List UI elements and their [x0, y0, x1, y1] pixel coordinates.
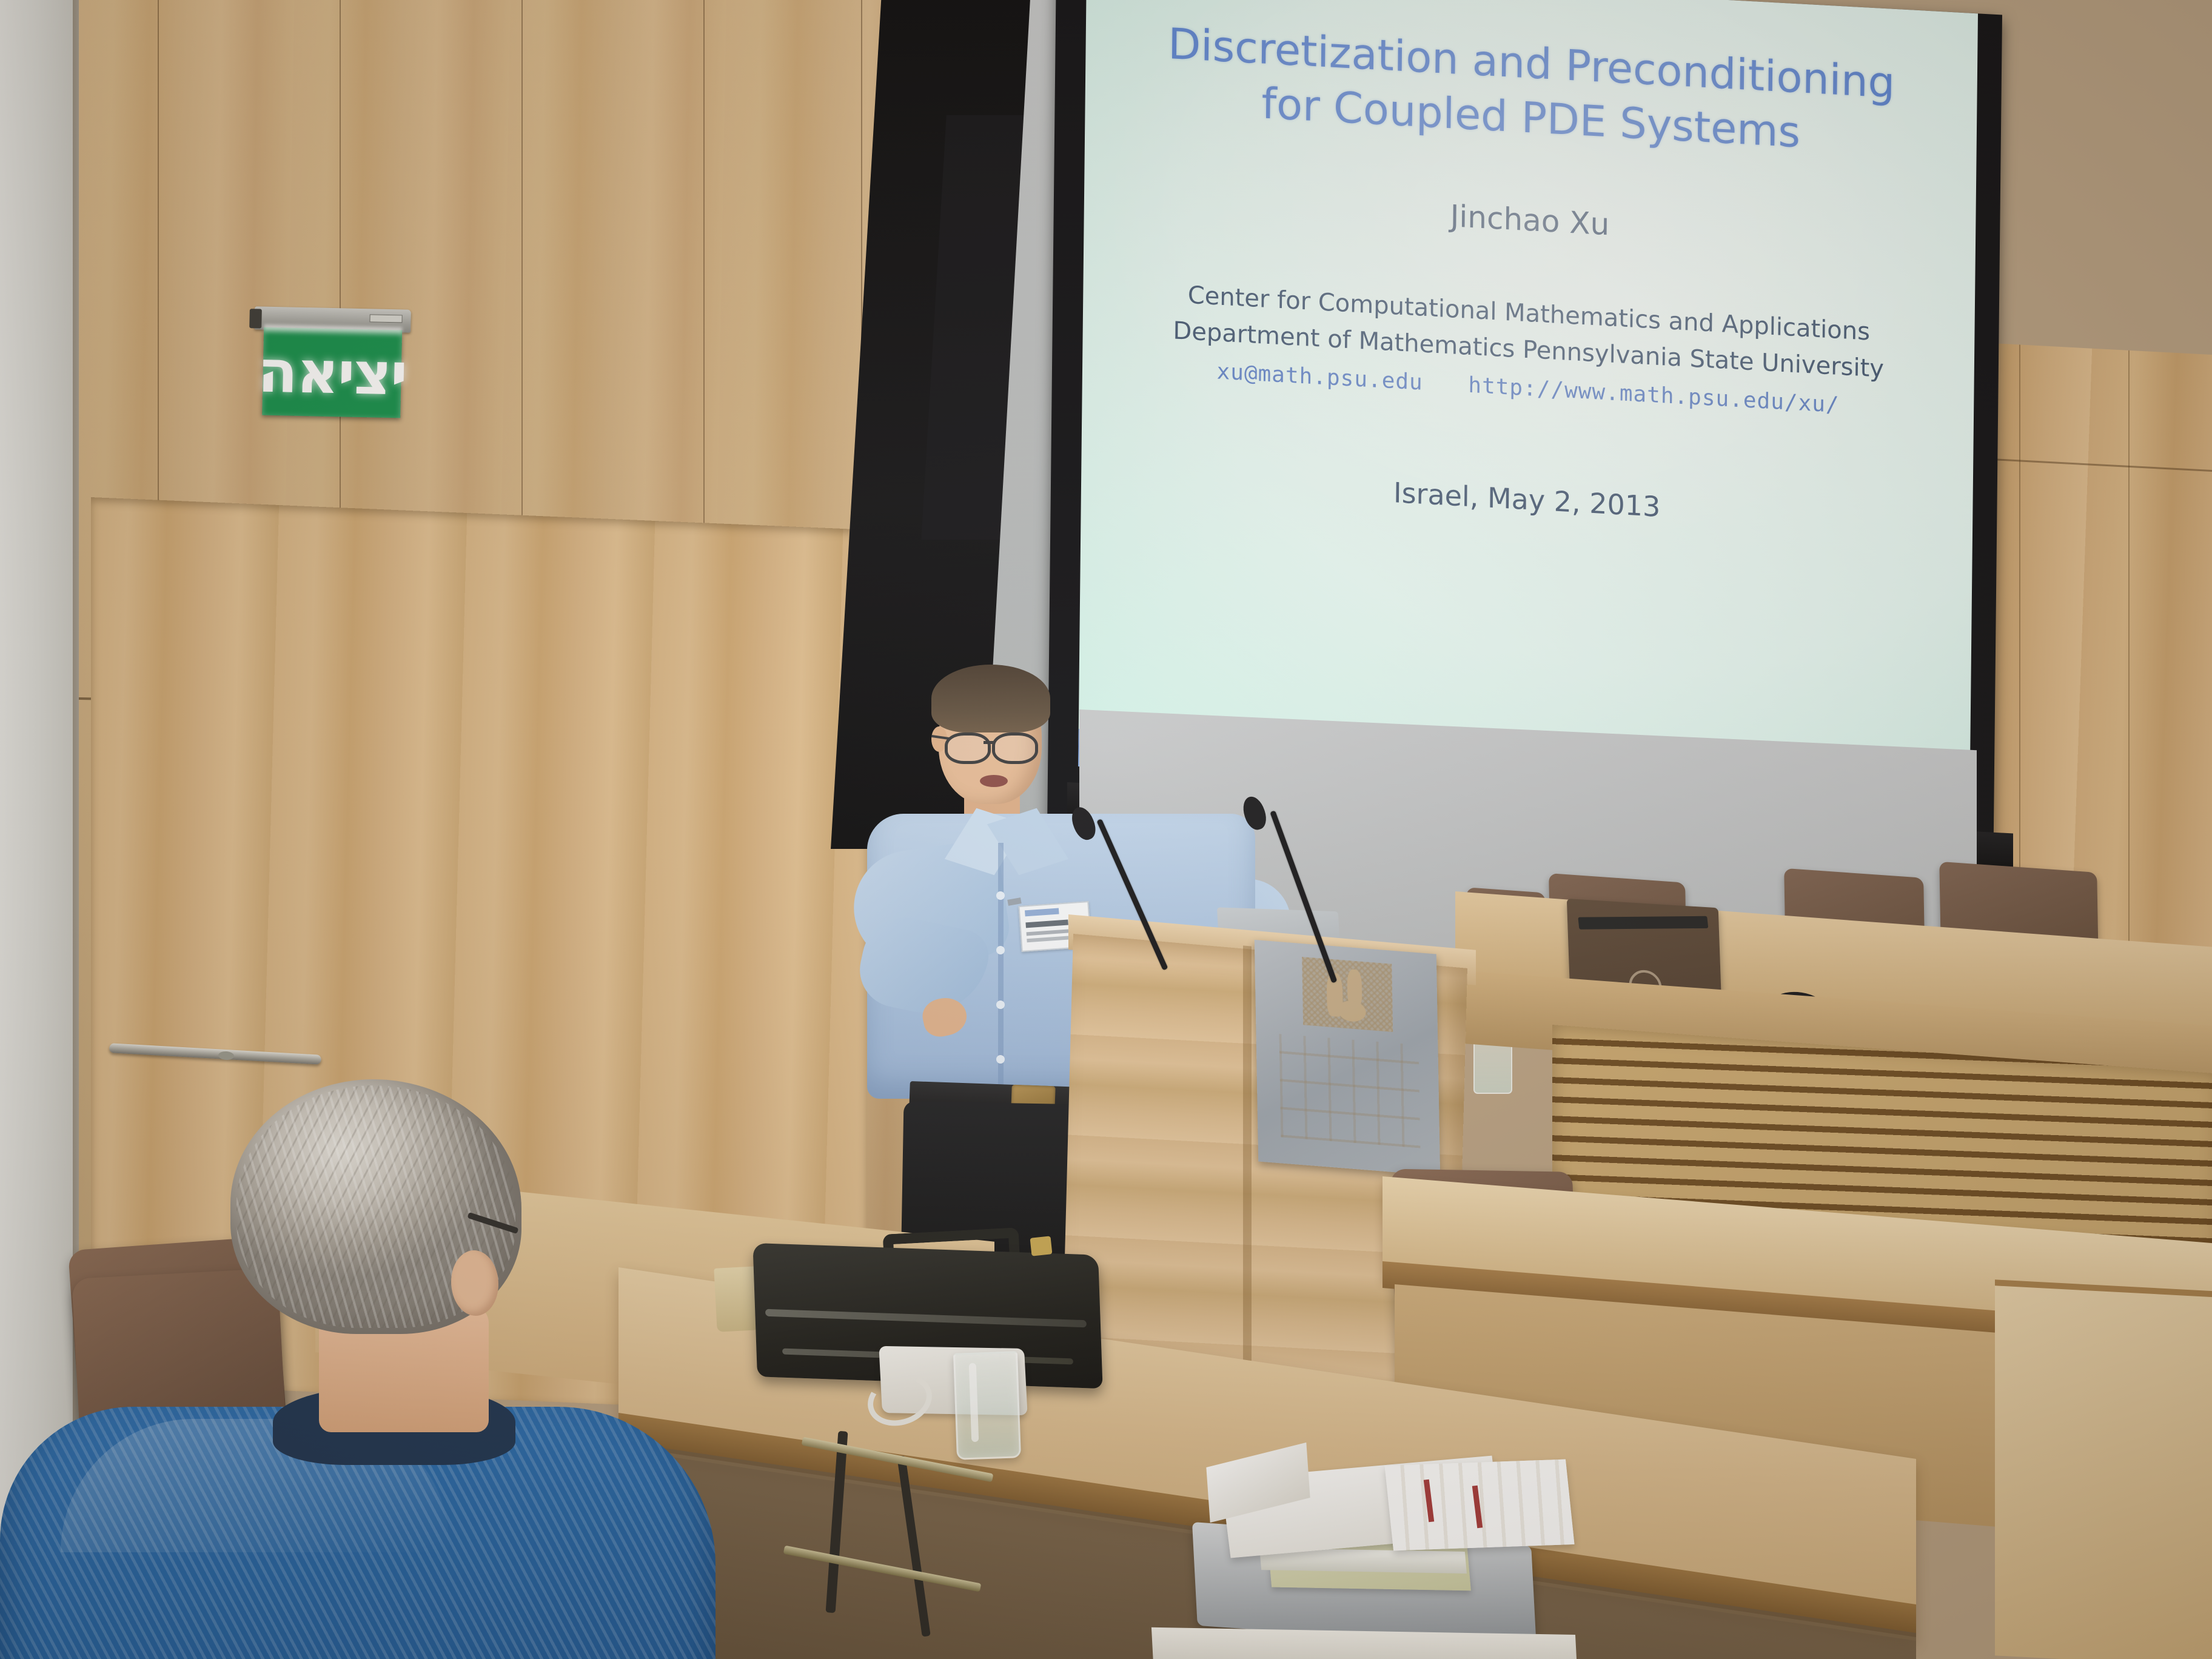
shirt-button-4 — [996, 1055, 1005, 1064]
eyeglasses-lens-left — [945, 732, 991, 764]
exit-sign-label-sticker — [369, 314, 402, 323]
bag-tag — [1030, 1236, 1053, 1256]
lecture-hall-photo: יציאה Discretization and Preconditioning… — [0, 0, 2212, 1659]
slide-author: Jinchao Xu — [1084, 179, 1976, 263]
podium-plaque — [1255, 940, 1440, 1176]
exit-sign-text: יציאה — [257, 342, 407, 403]
exit-sign-panel: יציאה — [262, 327, 402, 418]
speaker-mouth — [980, 775, 1008, 787]
right-table-surface — [1995, 1285, 2212, 1659]
shirt-button-3 — [996, 1000, 1005, 1009]
plaque-hebrew-inscription — [1279, 1034, 1420, 1148]
laptop-vent-strip — [1578, 916, 1708, 930]
slide-title: Discretization and Preconditioning for C… — [1085, 13, 1977, 170]
badge-logo — [1025, 908, 1059, 917]
shirt-button-2 — [996, 946, 1005, 954]
eyeglasses-lens-right — [992, 732, 1038, 764]
exit-sign-bracket — [249, 309, 262, 328]
shirt-button-1 — [996, 891, 1005, 900]
exit-sign: יציאה — [249, 306, 414, 422]
eyeglasses-bridge — [984, 741, 994, 744]
water-glass-foreground — [953, 1351, 1021, 1460]
slide-email: xu@math.psu.edu — [1216, 359, 1423, 395]
badge-name-line — [1025, 919, 1068, 928]
plaque-emblem-icon — [1302, 957, 1393, 1032]
audience-member — [206, 1079, 849, 1659]
podium-corner-edge — [1243, 945, 1252, 1407]
badge-affiliation-line-2 — [1027, 936, 1073, 942]
left-pillar — [0, 0, 80, 1659]
speaker-hair — [931, 665, 1050, 732]
slide-date: Israel, May 2, 2013 — [1081, 459, 1973, 540]
audience-ear — [451, 1250, 498, 1316]
